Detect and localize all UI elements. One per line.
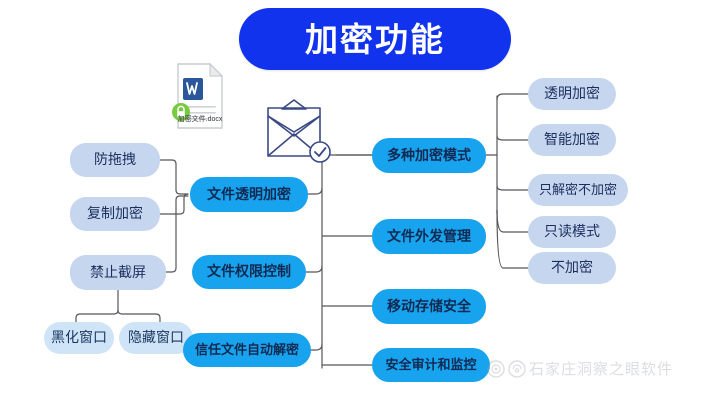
node-duozhongjiamimoshi[interactable]: 多种加密模式 bbox=[372, 138, 486, 173]
node-label: 文件透明加密 bbox=[207, 187, 291, 202]
node-heihuachuangkou[interactable]: 黑化窗口 bbox=[44, 322, 114, 354]
node-label: 安全审计和监控 bbox=[385, 358, 476, 372]
node-jinzhijieping[interactable]: 禁止截屏 bbox=[70, 255, 166, 290]
node-label: 不加密 bbox=[551, 260, 593, 275]
open-envelope-icon bbox=[258, 92, 338, 164]
node-yincangchuangkou[interactable]: 隐藏窗口 bbox=[119, 322, 193, 354]
page-title-text: 加密功能 bbox=[305, 23, 445, 56]
node-toumingjiami[interactable]: 透明加密 bbox=[528, 78, 616, 110]
node-wenjianquanxiankongzhi[interactable]: 文件权限控制 bbox=[192, 255, 306, 289]
file-label: 加密文件.docx bbox=[155, 114, 245, 124]
node-label: 智能加密 bbox=[544, 132, 600, 147]
circular-badge-icon-secondary bbox=[508, 360, 526, 378]
node-xinrenwenjianzidongjiemi[interactable]: 信任文件自动解密 bbox=[183, 333, 311, 367]
node-label: 隐藏窗口 bbox=[128, 330, 184, 345]
node-zhinengjiami[interactable]: 智能加密 bbox=[528, 124, 616, 156]
node-wenjiantoumingjiami[interactable]: 文件透明加密 bbox=[190, 177, 308, 212]
node-bujiami[interactable]: 不加密 bbox=[528, 252, 616, 284]
node-label: 只读模式 bbox=[544, 224, 600, 239]
node-anquanshenjihejiankong[interactable]: 安全审计和监控 bbox=[372, 348, 490, 382]
check-circle-icon bbox=[310, 142, 330, 162]
mindmap-canvas: 加密功能 加密文件.docx bbox=[0, 0, 706, 401]
node-yidongcunchuanquan[interactable]: 移动存储安全 bbox=[372, 289, 486, 324]
node-label: 黑化窗口 bbox=[51, 330, 107, 345]
node-label: 文件权限控制 bbox=[207, 264, 291, 279]
page-title: 加密功能 bbox=[239, 8, 511, 70]
node-label: 文件外发管理 bbox=[387, 229, 471, 244]
node-label: 复制加密 bbox=[87, 206, 143, 221]
node-label: 只解密不加密 bbox=[539, 183, 617, 197]
node-label: 禁止截屏 bbox=[90, 265, 146, 280]
node-fangtuozhuai[interactable]: 防拖拽 bbox=[70, 143, 160, 177]
node-label: 信任文件自动解密 bbox=[195, 343, 299, 357]
watermark: 石家庄洞察之眼软件 bbox=[487, 358, 673, 379]
node-label: 多种加密模式 bbox=[387, 148, 471, 163]
node-wenjianwaifaguanli[interactable]: 文件外发管理 bbox=[372, 219, 486, 254]
watermark-text: 石家庄洞察之眼软件 bbox=[529, 358, 673, 379]
node-label: 透明加密 bbox=[544, 86, 600, 101]
node-label: 防拖拽 bbox=[94, 152, 136, 167]
node-zhijiemibujiami[interactable]: 只解密不加密 bbox=[528, 174, 628, 206]
node-zhidumoshi[interactable]: 只读模式 bbox=[528, 216, 616, 248]
node-fuzhijiami[interactable]: 复制加密 bbox=[70, 197, 160, 231]
circular-badge-icon bbox=[487, 360, 505, 378]
node-label: 移动存储安全 bbox=[387, 299, 471, 314]
